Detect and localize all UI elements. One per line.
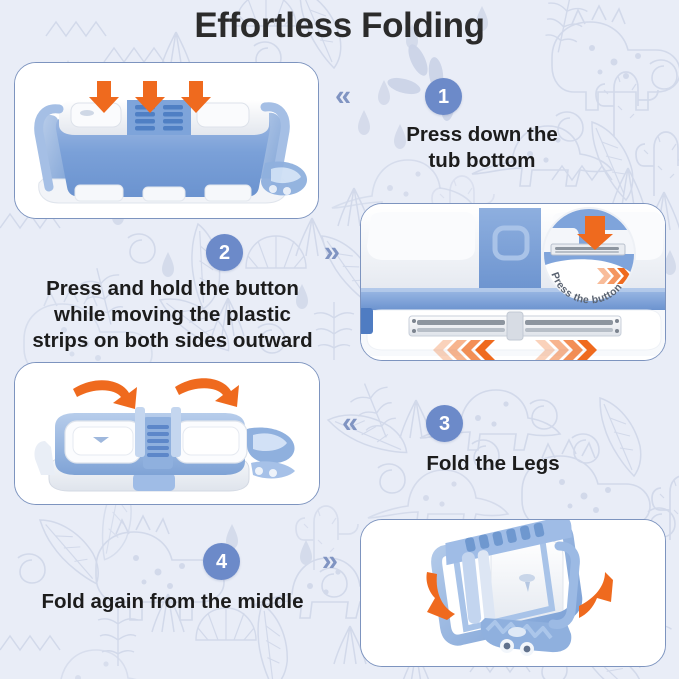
step-3-badge: 3: [426, 405, 463, 442]
step-4-block: 4 » Fold again from the middle: [0, 543, 345, 615]
step-2-badge: 2: [206, 234, 243, 271]
step-2-block: 2 » Press and hold the button while movi…: [0, 234, 345, 355]
tub-button-closeup-illustration: Press the button: [361, 204, 665, 360]
tub-upright-illustration: [15, 63, 318, 218]
step-3-photo-panel: [14, 362, 320, 505]
tub-flattened-illustration: [15, 363, 319, 504]
step-4-caption: Fold again from the middle: [0, 589, 345, 615]
page-title: Effortless Folding: [0, 6, 679, 46]
chevron-right-icon: »: [324, 238, 337, 267]
step-1-photo-panel: [14, 62, 319, 219]
step-1-badge: 1: [425, 78, 462, 115]
step-4-photo-panel: [360, 519, 666, 667]
step-1-caption: Press down the tub bottom: [342, 122, 622, 174]
step-3-caption: Fold the Legs: [348, 451, 638, 477]
chevron-right-icon: »: [322, 547, 335, 576]
step-1-block: « 1 Press down the tub bottom: [330, 78, 679, 174]
chevron-left-icon: «: [342, 409, 355, 438]
step-4-badge: 4: [203, 543, 240, 580]
chevron-left-icon: «: [335, 82, 348, 111]
step-2-photo-panel: Press the button: [360, 203, 666, 361]
tub-folded-vertical-illustration: [361, 520, 665, 666]
infographic-root: Effortless Folding: [0, 0, 679, 679]
step-3-block: « 3 Fold the Legs: [340, 405, 679, 477]
step-2-caption: Press and hold the button while moving t…: [0, 276, 345, 355]
down-arrow-group: [89, 81, 211, 113]
